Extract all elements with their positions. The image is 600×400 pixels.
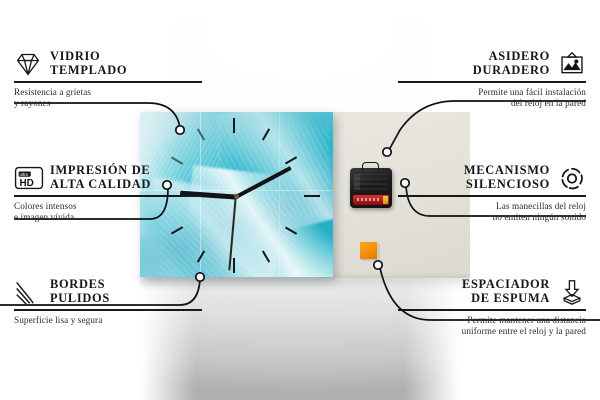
clock-mechanism [350, 168, 392, 208]
divider [398, 309, 586, 310]
diamond-icon [14, 51, 42, 77]
clock-tick [233, 258, 235, 273]
feature-title: IMPRESIÓN DE ALTA CALIDAD [50, 164, 151, 191]
infographic-canvas: VIDRIO TEMPLADO Resistencia a grietas y … [0, 0, 600, 400]
feature-subtitle: Colores intensos e imagen vívida [14, 201, 202, 223]
mechanism-hanger [362, 162, 379, 171]
feature-espaciador-espuma: ESPACIADOR DE ESPUMA Permite mantener un… [398, 278, 586, 337]
divider [14, 195, 202, 196]
feature-subtitle: Las manecillas del reloj no emiten ningú… [398, 201, 586, 223]
battery [353, 195, 389, 205]
feature-subtitle: Resistencia a grietas y rayones [14, 87, 202, 109]
feature-subtitle: Superficie lisa y segura [14, 315, 202, 326]
feature-title: MECANISMO SILENCIOSO [464, 164, 550, 191]
clock-tick [304, 195, 320, 197]
clock-tick [233, 118, 235, 133]
mechanism-housing [354, 174, 388, 190]
svg-text:ultra: ultra [19, 171, 28, 176]
feature-title: BORDES PULIDOS [50, 278, 110, 305]
divider [14, 309, 202, 310]
svg-text:HD: HD [19, 177, 33, 188]
divider [398, 195, 586, 196]
polished-edges-icon [14, 279, 42, 305]
feature-bordes-pulidos: BORDES PULIDOS Superficie lisa y segura [14, 278, 202, 326]
feature-subtitle: Permite mantener una distancia uniforme … [398, 315, 586, 337]
foam-spacer [360, 242, 377, 259]
ultra-hd-badge-icon: ultra HD [14, 165, 42, 191]
feature-title: ASIDERO DURADERO [473, 50, 550, 77]
feature-title: VIDRIO TEMPLADO [50, 50, 127, 77]
clock-center-pin [234, 194, 239, 199]
foam-spacer-arrow-icon [558, 279, 586, 305]
feature-mecanismo-silencioso: MECANISMO SILENCIOSO Las manecillas del … [398, 164, 586, 223]
feature-subtitle: Permite una fácil instalación del reloj … [398, 87, 586, 109]
wall-hanger-frame-icon [558, 51, 586, 77]
feature-vidrio-templado: VIDRIO TEMPLADO Resistencia a grietas y … [14, 50, 202, 109]
divider [14, 81, 202, 82]
gear-icon [558, 165, 586, 191]
divider [398, 81, 586, 82]
feature-title: ESPACIADOR DE ESPUMA [462, 278, 550, 305]
feature-impresion-alta-calidad: ultra HD IMPRESIÓN DE ALTA CALIDAD Color… [14, 164, 202, 223]
feature-asidero-duradero: ASIDERO DURADERO Permite una fácil insta… [398, 50, 586, 109]
